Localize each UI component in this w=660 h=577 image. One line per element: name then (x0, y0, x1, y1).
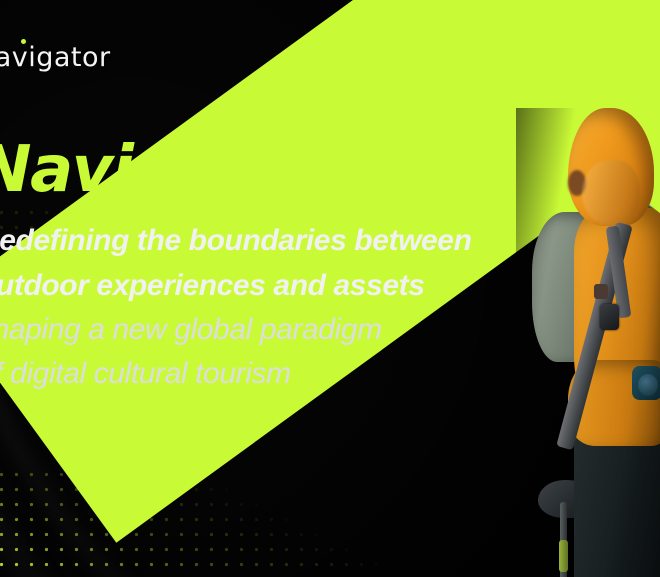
hero-copy: Navigator Redefining the boundaries betw… (0, 140, 598, 396)
brand-logo-label: Navigator (0, 44, 111, 71)
halftone-dot-pattern (0, 467, 414, 577)
subheadline-line-4: of digital cultural tourism (0, 352, 598, 396)
hero-subheadline: Redefining the boundaries between outdoo… (0, 219, 598, 395)
subheadline-line-3: shaping a new global paradigm (0, 308, 598, 352)
brand-logo[interactable]: Navigator (0, 44, 111, 71)
subheadline-line-1: Redefining the boundaries between (0, 219, 598, 263)
subheadline-line-2: outdoor experiences and assets (0, 264, 598, 308)
page-title: Navigator (0, 140, 598, 201)
accent-dot-icon (21, 39, 26, 44)
hero-banner: Navigator Navigator Redefining the bound… (0, 0, 660, 577)
